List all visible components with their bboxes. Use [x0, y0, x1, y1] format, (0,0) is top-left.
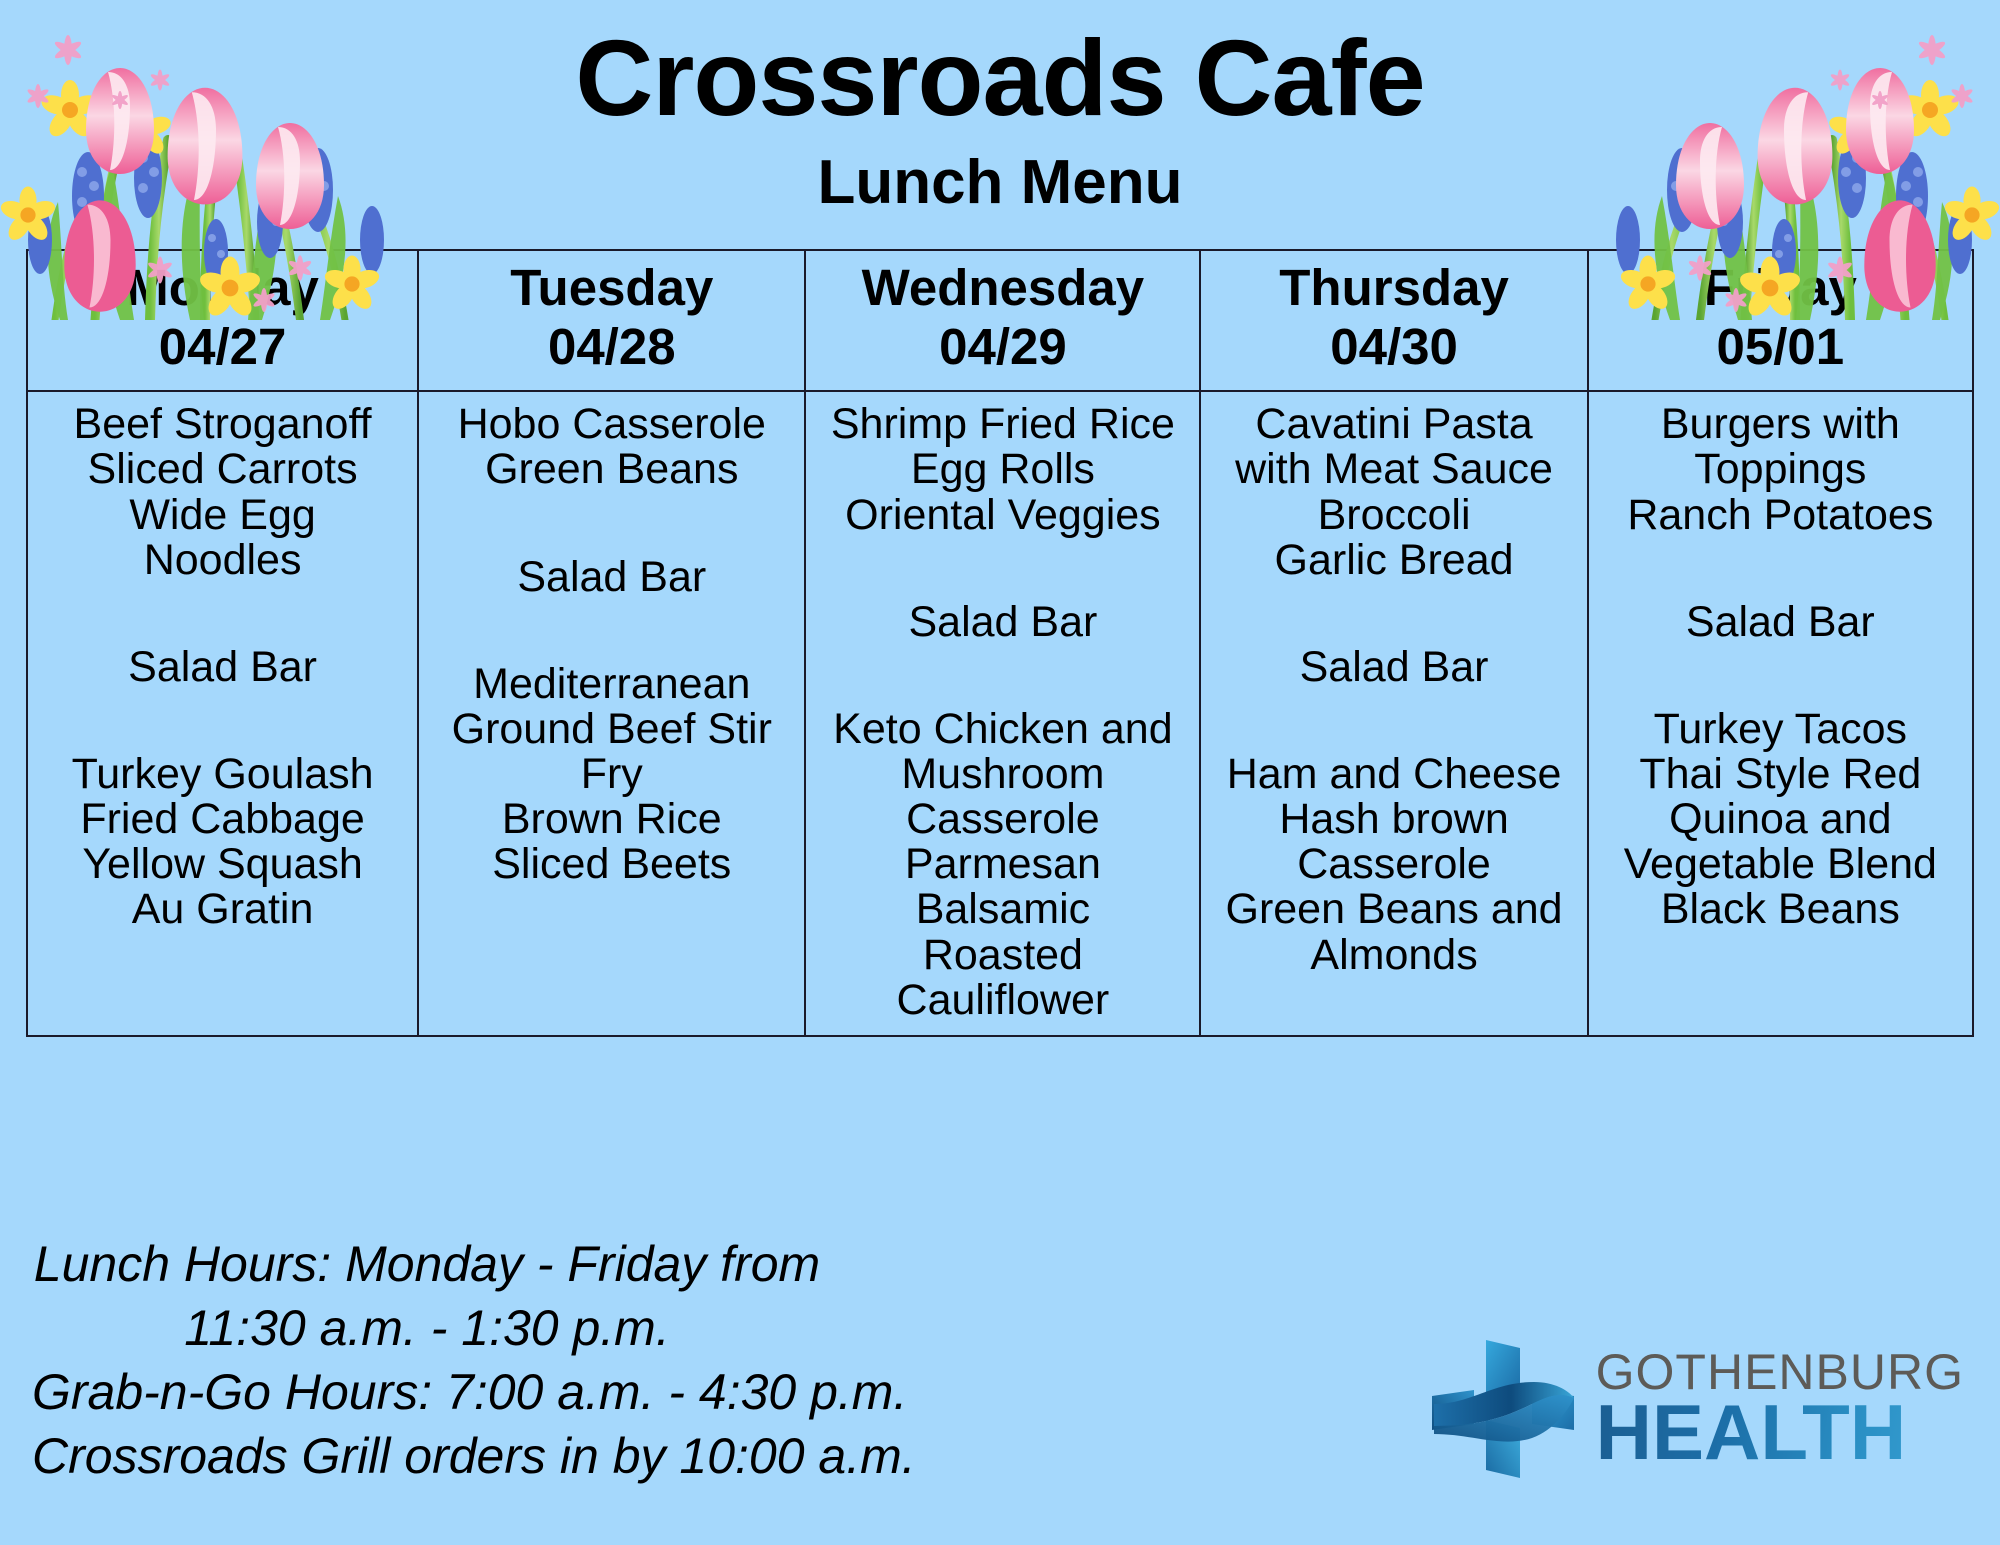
day-name: Monday	[32, 259, 413, 318]
day-name: Thursday	[1205, 259, 1582, 318]
menu-table-container: Monday 04/27 Tuesday 04/28 Wednesday 04/…	[26, 249, 1974, 1037]
entree-primary: Beef StroganoffSliced CarrotsWide EggNoo…	[34, 402, 411, 583]
day-header-monday: Monday 04/27	[27, 250, 418, 391]
day-date: 04/30	[1205, 318, 1582, 377]
salad-bar-item: Salad Bar	[34, 645, 411, 690]
page-subtitle: Lunch Menu	[0, 152, 2000, 214]
cell-spacer	[812, 538, 1193, 600]
cell-spacer	[425, 493, 798, 555]
entree-primary: Burgers withToppingsRanch Potatoes	[1595, 402, 1966, 537]
cell-spacer	[34, 583, 411, 645]
salad-bar-item: Salad Bar	[1595, 600, 1966, 645]
logo-word-health: HEALTH	[1596, 1393, 1964, 1471]
day-header-friday: Friday 05/01	[1588, 250, 1973, 391]
day-name: Friday	[1593, 259, 1968, 318]
menu-cell-friday: Burgers withToppingsRanch Potatoes Salad…	[1588, 391, 1973, 1036]
menu-cell-tuesday: Hobo CasseroleGreen Beans Salad Bar Medi…	[418, 391, 805, 1036]
table-body-row: Beef StroganoffSliced CarrotsWide EggNoo…	[27, 391, 1973, 1036]
menu-cell-monday: Beef StroganoffSliced CarrotsWide EggNoo…	[27, 391, 418, 1036]
weekly-menu-table: Monday 04/27 Tuesday 04/28 Wednesday 04/…	[26, 249, 1974, 1037]
page-footer: Lunch Hours: Monday - Friday from 11:30 …	[26, 1232, 1974, 1532]
day-name: Wednesday	[810, 259, 1195, 318]
gothenburg-health-logo: GOTHENBURG HEALTH	[1428, 1334, 1964, 1484]
day-name: Tuesday	[423, 259, 800, 318]
page-title: Crossroads Cafe	[0, 0, 2000, 132]
day-date: 04/28	[423, 318, 800, 377]
salad-bar-item: Salad Bar	[812, 600, 1193, 645]
day-date: 05/01	[1593, 318, 1968, 377]
page-header: Crossroads Cafe Lunch Menu	[0, 0, 2000, 245]
salad-bar-item: Salad Bar	[425, 555, 798, 600]
gothenburg-cross-ribbon-icon	[1428, 1334, 1578, 1484]
salad-bar-item: Salad Bar	[1207, 645, 1580, 690]
logo-wordmark: GOTHENBURG HEALTH	[1596, 1347, 1964, 1471]
cell-spacer	[1595, 645, 1966, 707]
cell-spacer	[812, 645, 1193, 707]
entree-primary: Shrimp Fried RiceEgg RollsOriental Veggi…	[812, 402, 1193, 537]
day-header-thursday: Thursday 04/30	[1200, 250, 1587, 391]
menu-cell-wednesday: Shrimp Fried RiceEgg RollsOriental Veggi…	[805, 391, 1200, 1036]
entree-secondary: Turkey GoulashFried CabbageYellow Squash…	[34, 752, 411, 933]
entree-secondary: MediterraneanGround Beef StirFryBrown Ri…	[425, 662, 798, 888]
entree-secondary: Turkey TacosThai Style RedQuinoa andVege…	[1595, 707, 1966, 933]
entree-primary: Cavatini Pastawith Meat SauceBroccoliGar…	[1207, 402, 1580, 583]
entree-primary: Hobo CasseroleGreen Beans	[425, 402, 798, 492]
menu-cell-thursday: Cavatini Pastawith Meat SauceBroccoliGar…	[1200, 391, 1587, 1036]
table-header-row: Monday 04/27 Tuesday 04/28 Wednesday 04/…	[27, 250, 1973, 391]
day-header-tuesday: Tuesday 04/28	[418, 250, 805, 391]
day-header-wednesday: Wednesday 04/29	[805, 250, 1200, 391]
cell-spacer	[1207, 583, 1580, 645]
day-date: 04/29	[810, 318, 1195, 377]
cell-spacer	[425, 600, 798, 662]
entree-secondary: Keto Chicken andMushroomCasseroleParmesa…	[812, 707, 1193, 1023]
entree-secondary: Ham and CheeseHash brownCasseroleGreen B…	[1207, 752, 1580, 978]
lunch-hours-line2: 11:30 a.m. - 1:30 p.m.	[32, 1296, 822, 1360]
lunch-hours-line1: Lunch Hours: Monday - Friday from	[32, 1232, 822, 1296]
cell-spacer	[34, 690, 411, 752]
day-date: 04/27	[32, 318, 413, 377]
cell-spacer	[1595, 538, 1966, 600]
cell-spacer	[1207, 690, 1580, 752]
